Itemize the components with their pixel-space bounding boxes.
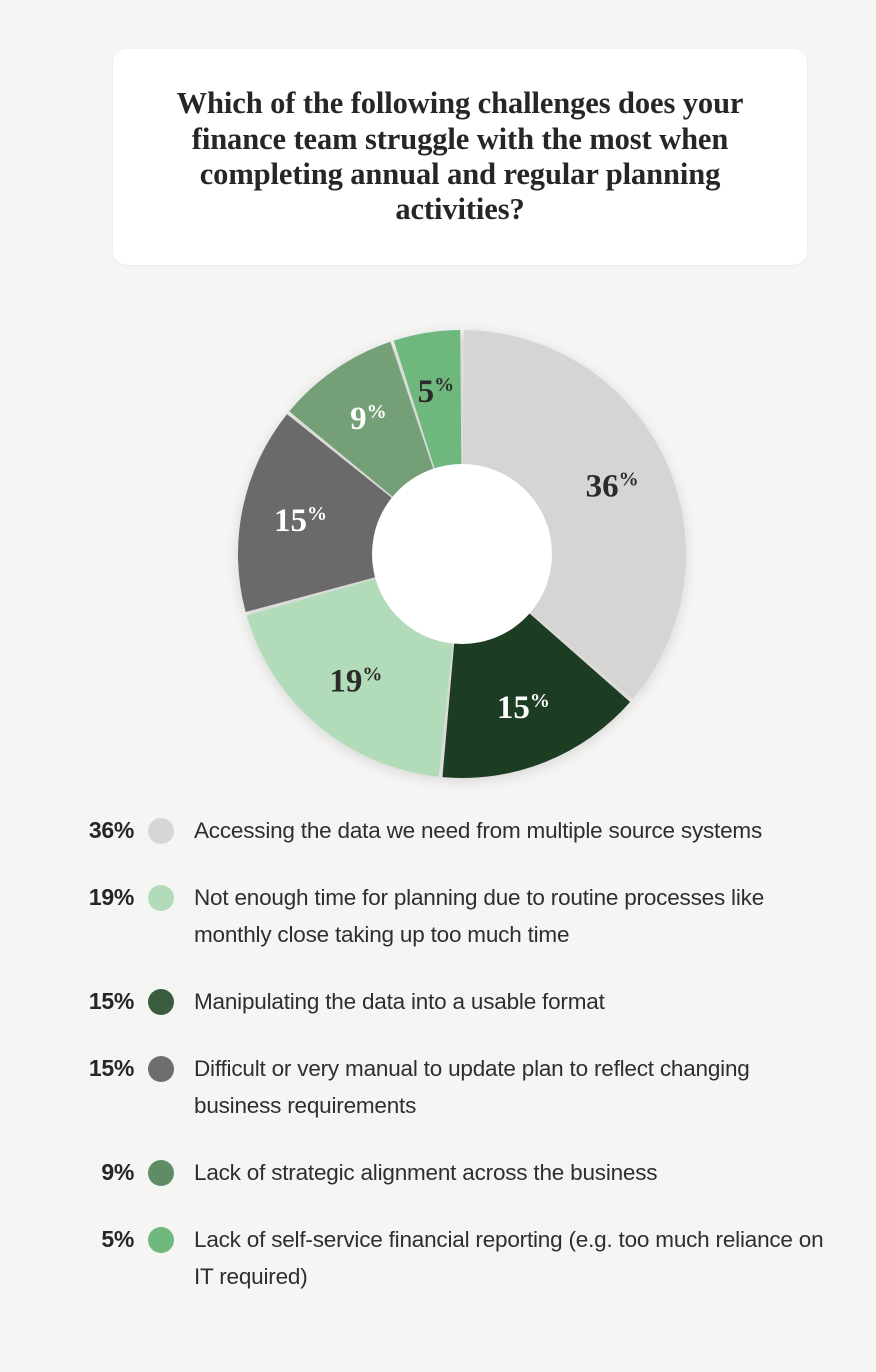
legend-percent: 5%	[78, 1221, 134, 1258]
legend-label: Not enough time for planning due to rout…	[194, 879, 838, 953]
legend-label: Accessing the data we need from multiple…	[194, 812, 762, 849]
legend-percent: 36%	[78, 812, 134, 849]
legend-item[interactable]: 5%Lack of self-service financial reporti…	[0, 1221, 876, 1295]
legend-percent: 9%	[78, 1154, 134, 1191]
legend-item[interactable]: 9%Lack of strategic alignment across the…	[0, 1154, 876, 1191]
legend-label: Lack of strategic alignment across the b…	[194, 1154, 657, 1191]
legend-item[interactable]: 36%Accessing the data we need from multi…	[0, 812, 876, 849]
donut-chart-svg: 36%15%19%15%9%5%	[234, 326, 690, 782]
question-title-card: Which of the following challenges does y…	[113, 49, 807, 265]
legend-item[interactable]: 15%Manipulating the data into a usable f…	[0, 983, 876, 1020]
legend-label: Difficult or very manual to update plan …	[194, 1050, 838, 1124]
legend-item[interactable]: 19%Not enough time for planning due to r…	[0, 879, 876, 953]
legend-color-dot-icon	[148, 1227, 174, 1253]
legend-item[interactable]: 15%Difficult or very manual to update pl…	[0, 1050, 876, 1124]
chart-page: Which of the following challenges does y…	[0, 0, 876, 1372]
legend-percent: 15%	[78, 1050, 134, 1087]
legend-percent: 19%	[78, 879, 134, 916]
legend-color-dot-icon	[148, 885, 174, 911]
legend-color-dot-icon	[148, 1160, 174, 1186]
legend-color-dot-icon	[148, 1056, 174, 1082]
legend-label: Manipulating the data into a usable form…	[194, 983, 605, 1020]
chart-legend: 36%Accessing the data we need from multi…	[0, 812, 876, 1295]
legend-color-dot-icon	[148, 989, 174, 1015]
page-title: Which of the following challenges does y…	[153, 86, 767, 228]
legend-percent: 15%	[78, 983, 134, 1020]
legend-color-dot-icon	[148, 818, 174, 844]
donut-hole	[372, 464, 552, 644]
donut-chart: 36%15%19%15%9%5%	[234, 326, 690, 782]
legend-label: Lack of self-service financial reporting…	[194, 1221, 838, 1295]
